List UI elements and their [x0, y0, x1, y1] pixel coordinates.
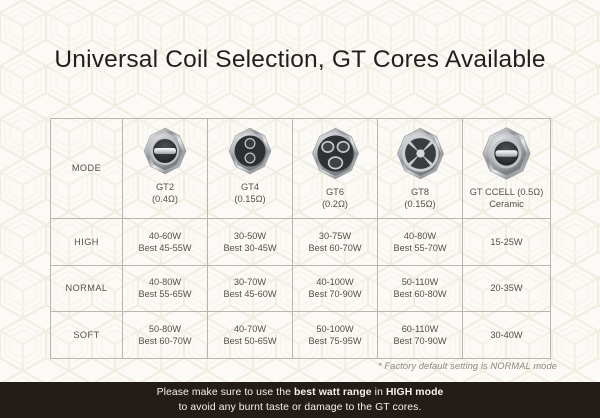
table-header-row: MODE: [51, 119, 551, 219]
coil-gt2-icon: [140, 126, 190, 176]
table-row-soft: SOFT 50-80W Best 60-70W 40-70W Best 50-6…: [51, 312, 551, 359]
coil-label-ccell: GT CCELL (0.5Ω) Ceramic: [470, 186, 544, 210]
cell-soft-gt8: 60-110W Best 70-90W: [378, 312, 463, 359]
row-label-soft: SOFT: [51, 312, 123, 359]
header-mode-label: MODE: [51, 119, 123, 219]
row-label-high: HIGH: [51, 219, 123, 266]
page-title: Universal Coil Selection, GT Cores Avail…: [0, 46, 600, 74]
coil-gt6-icon: [308, 126, 363, 181]
table-row-normal: NORMAL 40-80W Best 55-65W 30-70W Best 45…: [51, 265, 551, 312]
coil-column-ccell: GT CCELL (0.5Ω) Ceramic: [463, 119, 551, 219]
coil-label-gt4: GT4 (0.15Ω): [234, 181, 265, 205]
cell-high-gt8: 40-80W Best 55-70W: [378, 219, 463, 266]
cell-soft-gt2: 50-80W Best 60-70W: [123, 312, 208, 359]
table-row-high: HIGH 40-60W Best 45-55W 30-50W Best 30-4…: [51, 219, 551, 266]
cell-normal-gt8: 50-110W Best 60-80W: [378, 265, 463, 312]
coil-column-gt6: GT6 (0.2Ω): [293, 119, 378, 219]
cell-soft-ccell: 30-40W: [463, 312, 551, 359]
row-label-normal: NORMAL: [51, 265, 123, 312]
coil-label-gt8: GT8 (0.15Ω): [404, 186, 435, 210]
cell-high-gt4: 30-50W Best 30-45W: [208, 219, 293, 266]
footnote-default-mode: * Factory default setting is NORMAL mode: [0, 361, 557, 371]
cell-normal-ccell: 20-35W: [463, 265, 551, 312]
cell-normal-gt6: 40-100W Best 70-90W: [293, 265, 378, 312]
cell-normal-gt4: 30-70W Best 45-60W: [208, 265, 293, 312]
cell-normal-gt2: 40-80W Best 55-65W: [123, 265, 208, 312]
coil-label-gt2: GT2 (0.4Ω): [152, 181, 178, 205]
cell-high-gt2: 40-60W Best 45-55W: [123, 219, 208, 266]
coil-ccell-icon: [479, 126, 534, 181]
coil-selection-table: MODE: [50, 118, 551, 359]
cell-high-gt6: 30-75W Best 60-70W: [293, 219, 378, 266]
coil-label-gt6: GT6 (0.2Ω): [322, 186, 348, 210]
cell-soft-gt6: 50-100W Best 75-95W: [293, 312, 378, 359]
coil-column-gt4: GT4 (0.15Ω): [208, 119, 293, 219]
coil-column-gt2: GT2 (0.4Ω): [123, 119, 208, 219]
page-content: Universal Coil Selection, GT Cores Avail…: [0, 0, 600, 418]
coil-column-gt8: GT8 (0.15Ω): [378, 119, 463, 219]
cell-soft-gt4: 40-70W Best 50-65W: [208, 312, 293, 359]
coil-gt8-icon: [393, 126, 448, 181]
coil-gt4-icon: [225, 126, 275, 176]
cell-high-ccell: 15-25W: [463, 219, 551, 266]
